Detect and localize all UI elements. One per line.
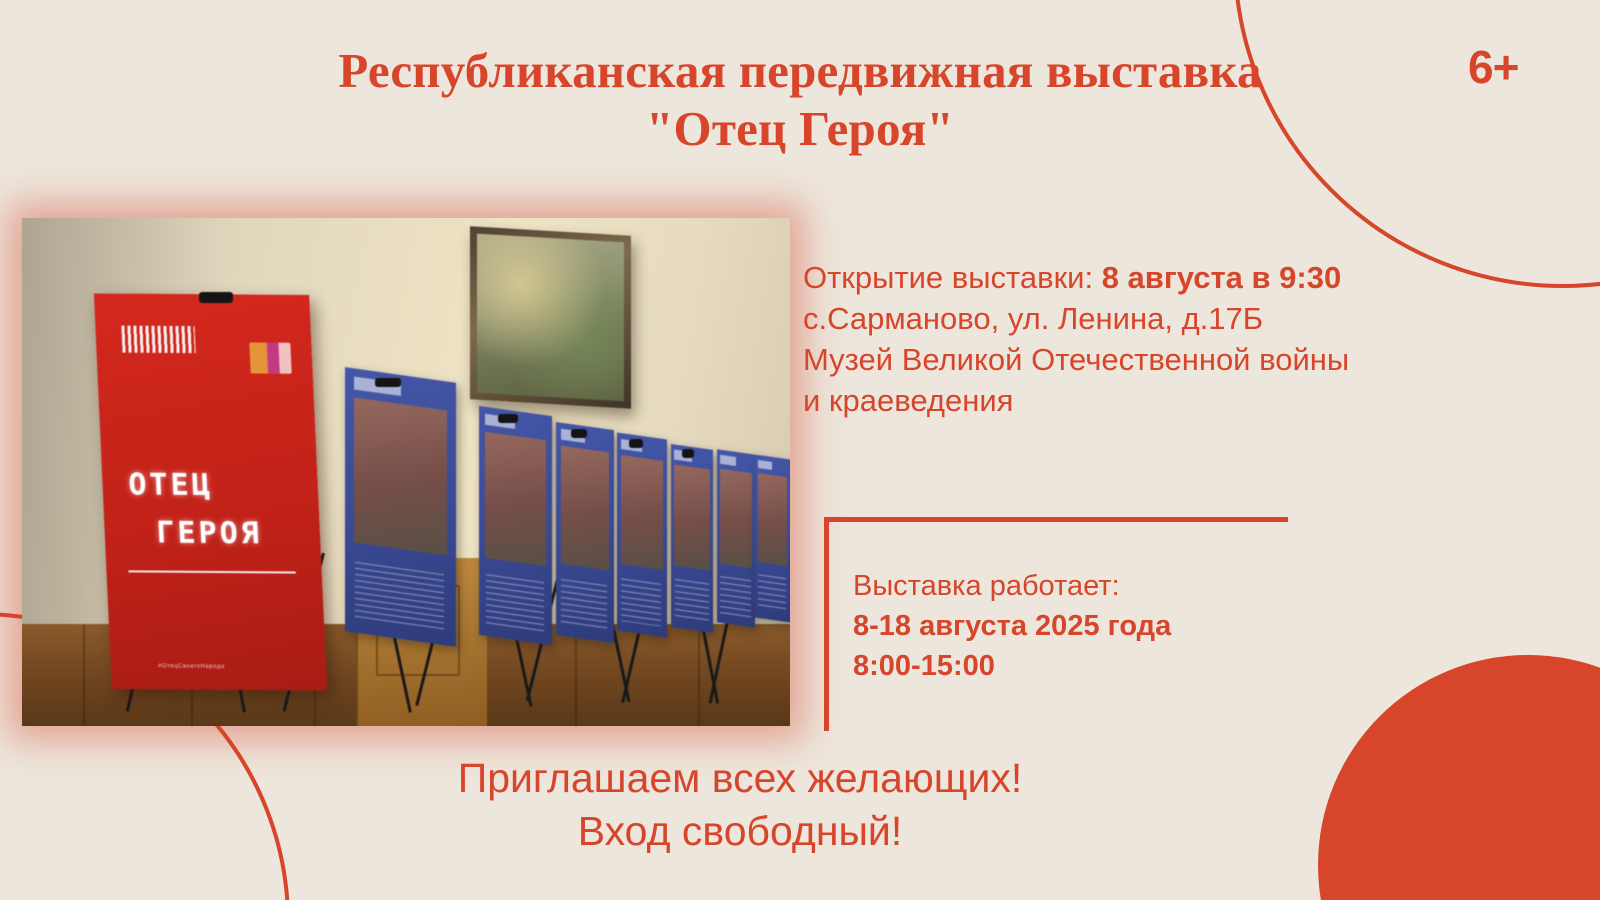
photo-exhibit-panel — [717, 449, 755, 627]
schedule-content: Выставка работает: 8-18 августа 2025 год… — [853, 566, 1171, 686]
poster-title-line1: Республиканская передвижная выставка — [338, 43, 1261, 98]
photo-banner-rule — [128, 571, 296, 574]
photo-banner-tagline: #ОтецСвоегоНарода — [158, 664, 225, 670]
photo-painting-canvas — [477, 233, 624, 400]
photo-panel-clip — [498, 414, 518, 423]
decorative-circle-bottom-right — [1318, 655, 1600, 900]
opening-value: 8 августа в 9:30 — [1102, 260, 1342, 295]
cta-line2: Вход свободный! — [210, 805, 1270, 858]
photo-banner-clip — [199, 292, 233, 303]
photo-panel-clip — [629, 439, 643, 448]
schedule-box: Выставка работает: 8-18 августа 2025 год… — [824, 517, 1288, 731]
photo-panel-clip — [682, 449, 694, 458]
age-rating-badge: 6+ — [1468, 40, 1518, 94]
photo-exhibit-panel — [671, 444, 713, 633]
photo-exhibit-panel — [345, 368, 456, 648]
photo-exhibit-panel — [755, 454, 790, 621]
photo-banner-title-line1: ОТЕЦ — [127, 468, 213, 504]
event-details: Открытие выставки: 8 августа в 9:30 с.Са… — [803, 258, 1543, 422]
event-venue-line1: Музей Великой Отечественной войны — [803, 340, 1543, 381]
photo-exhibit-panel — [556, 422, 614, 643]
schedule-label: Выставка работает: — [853, 566, 1171, 606]
photo-exhibit-panel — [479, 406, 552, 645]
photo-banner-title-line2: ГЕРОЯ — [155, 516, 262, 552]
poster-canvas: Республиканская передвижная выставка "От… — [0, 0, 1600, 900]
photo-panel-clip — [571, 429, 587, 438]
event-address: с.Сарманово, ул. Ленина, д.17Б — [803, 299, 1543, 340]
poster-title: Республиканская передвижная выставка "От… — [180, 42, 1420, 158]
photo-panel-clip — [375, 378, 401, 387]
photo-red-banner: ОТЕЦ ГЕРОЯ #ОтецСвоегоНарода — [93, 294, 326, 691]
photo-banner-logo-secondary — [249, 342, 291, 374]
schedule-hours: 8:00-15:00 — [853, 646, 1171, 686]
event-opening-line: Открытие выставки: 8 августа в 9:30 — [803, 258, 1543, 299]
photo-banner-logo — [121, 325, 195, 353]
opening-label: Открытие выставки: — [803, 260, 1102, 295]
exhibition-photo-scene: ОТЕЦ ГЕРОЯ #ОтецСвоегоНарода — [22, 218, 790, 726]
poster-title-line2: "Отец Героя" — [180, 100, 1420, 158]
photo-framed-painting — [470, 226, 631, 408]
schedule-dates: 8-18 августа 2025 года — [853, 606, 1171, 646]
photo-exhibit-panel — [617, 433, 667, 638]
cta-line1: Приглашаем всех желающих! — [210, 752, 1270, 805]
call-to-action: Приглашаем всех желающих! Вход свободный… — [210, 752, 1270, 859]
event-venue-line2: и краеведения — [803, 381, 1543, 422]
exhibition-photo: ОТЕЦ ГЕРОЯ #ОтецСвоегоНарода — [22, 218, 790, 726]
